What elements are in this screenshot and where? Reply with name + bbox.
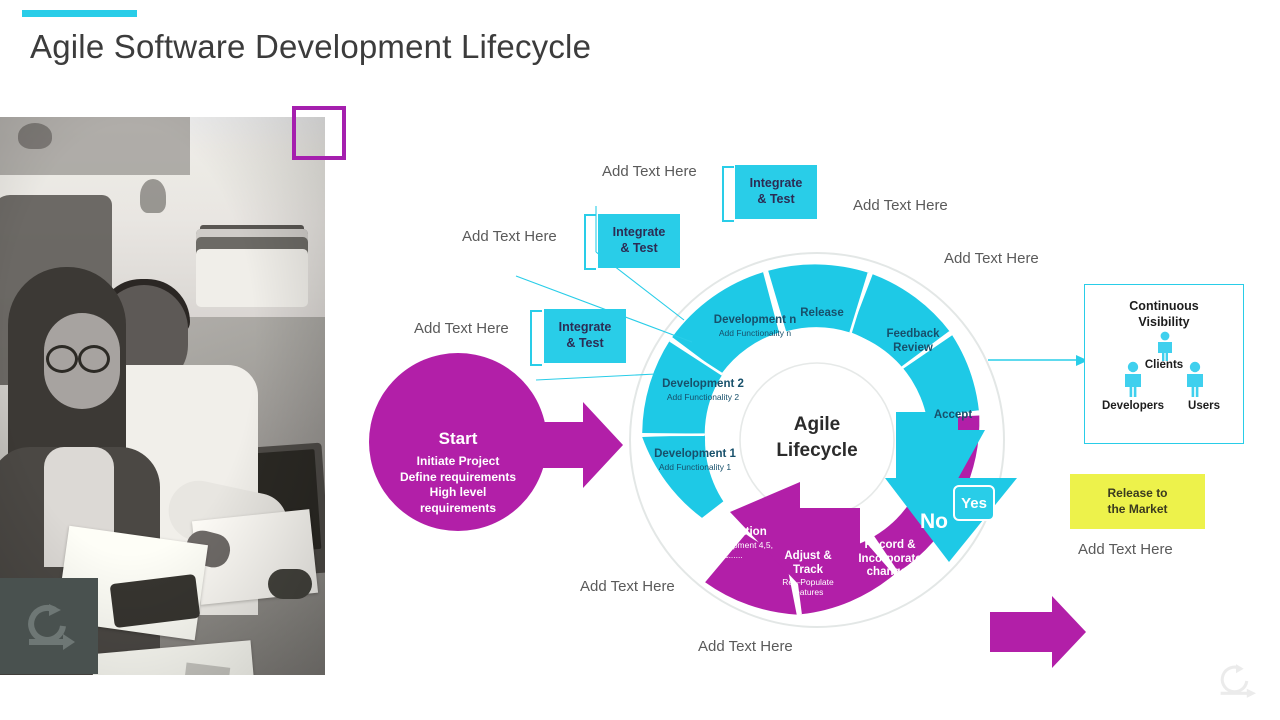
segment-label-next-iteration: Next Iteration Onto development 4,5, etc… (670, 526, 790, 560)
wheel-center-label: Agile Lifecycle (744, 412, 890, 463)
agile-loop-icon (21, 600, 77, 652)
segment-label-feedback-review: Feedback Review (868, 328, 958, 355)
yes-chip[interactable]: Yes (953, 485, 995, 521)
release-to-market-box[interactable]: Release to the Market (1070, 474, 1205, 529)
continuous-visibility-box: Continuous Visibility Clients Developers… (1084, 284, 1244, 444)
integrate-tab-1 (722, 166, 734, 222)
start-arrow (540, 402, 623, 488)
yes-market-arrow (990, 596, 1086, 668)
integrate-tab-2 (584, 214, 596, 270)
segment-label-development-2: Development 2 Add Functionality 2 (648, 378, 758, 402)
agile-loop-watermark (1214, 661, 1258, 706)
slide-canvas: Agile Software Development Lifecycle (0, 0, 1280, 720)
anno-bottom-left: Add Text Here (580, 578, 675, 595)
agile-loop-badge (0, 578, 98, 674)
integrate-test-box-1[interactable]: Integrate & Test (735, 165, 817, 219)
anno-mid-left: Add Text Here (462, 228, 557, 245)
integrate-test-box-2[interactable]: Integrate & Test (598, 214, 680, 268)
accept-arrow-shaft (896, 412, 958, 492)
anno-top-right: Add Text Here (853, 197, 948, 214)
segment-label-accept: Accept (908, 409, 998, 423)
anno-bottom-mid: Add Text Here (698, 638, 793, 655)
anno-low-left: Add Text Here (414, 320, 509, 337)
market-caption: Add Text Here (1078, 541, 1173, 558)
agile-loop-watermark-icon (1214, 661, 1258, 701)
person-icon-developers (1119, 361, 1147, 397)
integrate-tab-3 (530, 310, 542, 366)
anno-top-left: Add Text Here (602, 163, 697, 180)
segment-label-development-1: Development 1 Add Functionality 1 (640, 448, 750, 472)
segment-label-release: Release (777, 307, 867, 321)
arrow-text-label: Text (1004, 493, 1031, 508)
start-node-label: Start Initiate Project Define requiremen… (383, 428, 533, 516)
page-title: Agile Software Development Lifecycle (30, 28, 591, 66)
visibility-title: Continuous Visibility (1085, 299, 1243, 330)
person-icon-users (1181, 361, 1209, 397)
person-icon-clients (1153, 331, 1177, 361)
integrate-test-box-3[interactable]: Integrate & Test (544, 309, 626, 363)
anno-mid-right: Add Text Here (944, 250, 1039, 267)
visibility-label-developers: Developers (1087, 400, 1179, 412)
title-accent-bar (22, 10, 137, 17)
visibility-label-clients: Clients (1085, 359, 1243, 371)
purple-outline-square (292, 106, 346, 160)
no-label: No (920, 510, 948, 534)
visibility-label-users: Users (1175, 400, 1233, 412)
